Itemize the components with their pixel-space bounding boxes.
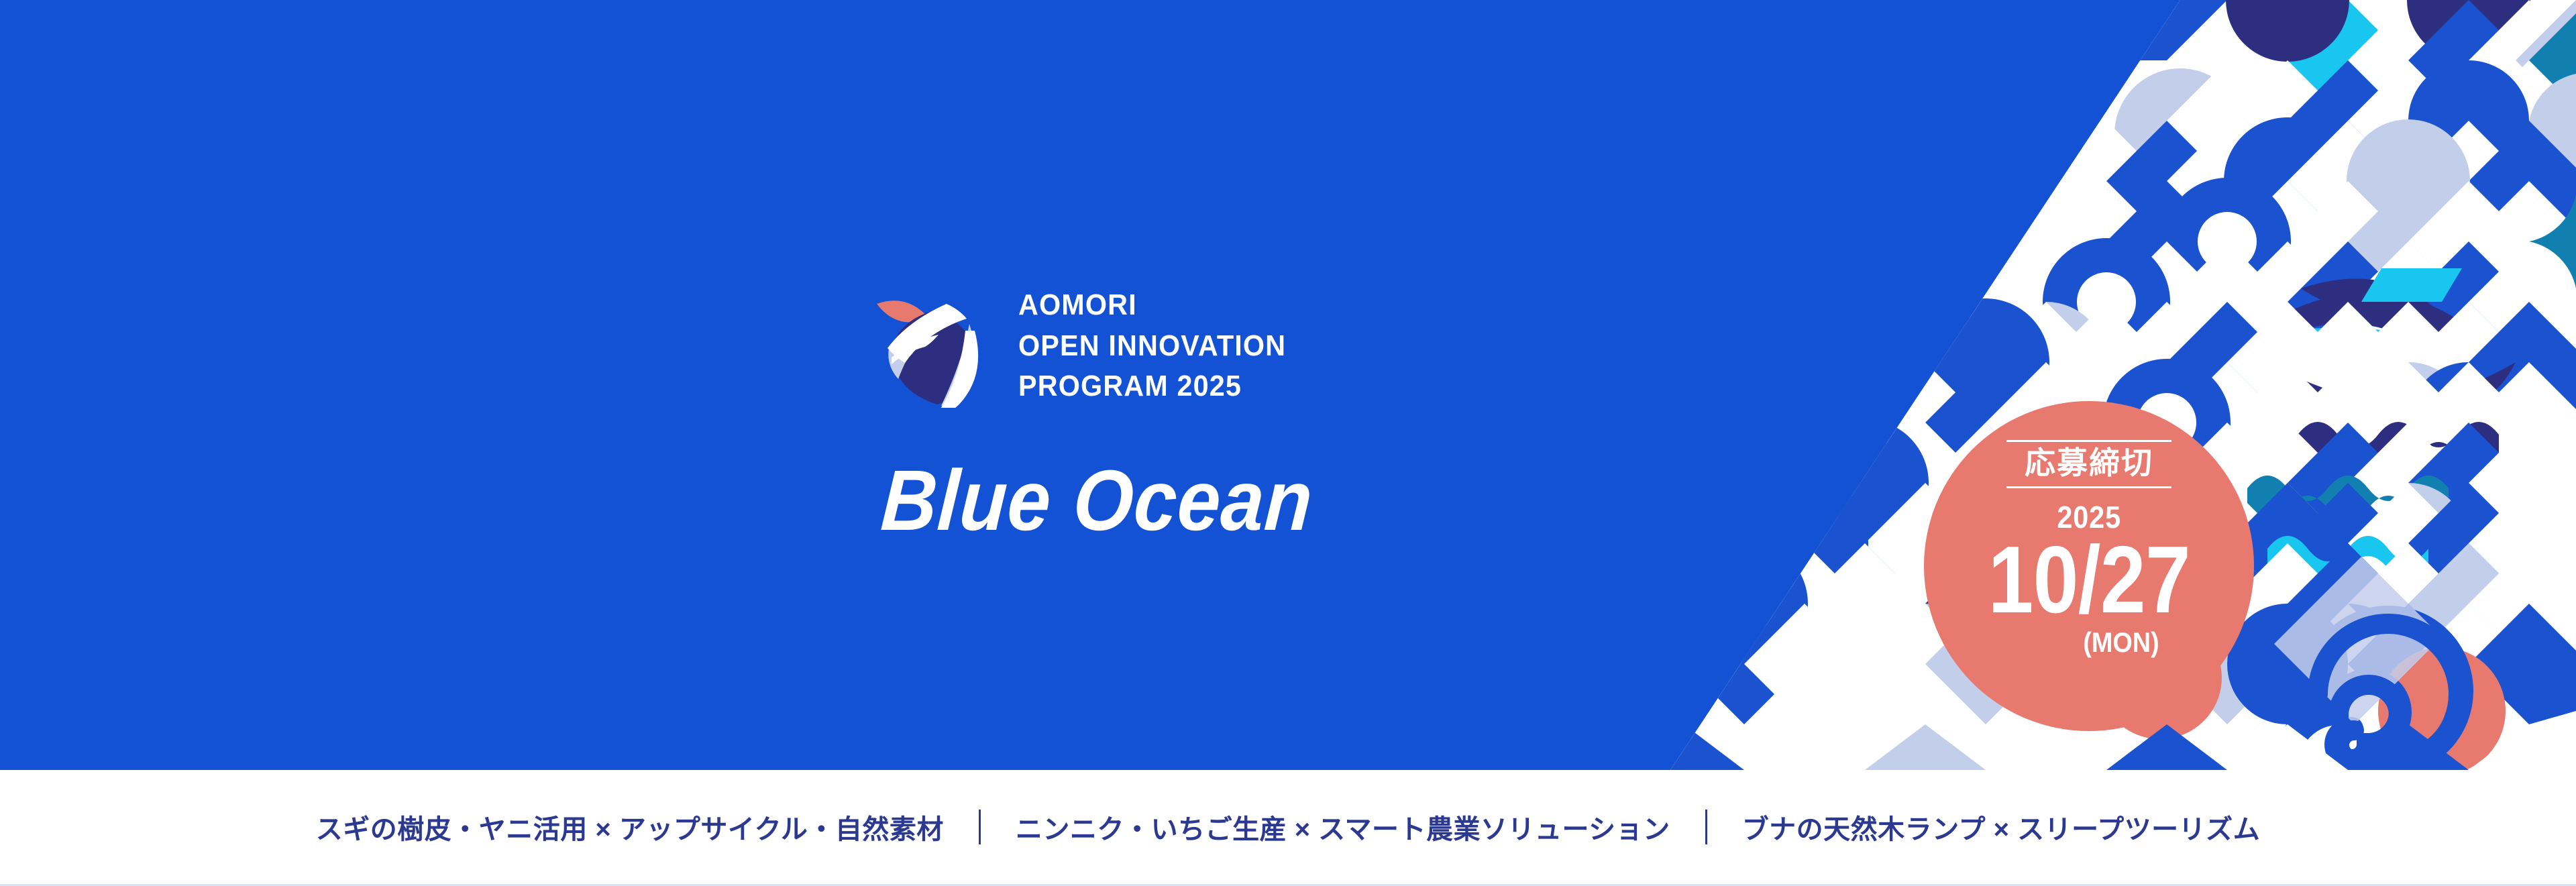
logo-line-3: PROGRAM 2025 bbox=[1018, 366, 1286, 407]
program-logo-text: AOMORI OPEN INNOVATION PROGRAM 2025 bbox=[1018, 278, 1303, 407]
deadline-label-wrap: 応募締切 bbox=[2006, 440, 2171, 488]
theme-item-2[interactable]: ニンニク・いちご生産 × スマート農業ソリューション bbox=[981, 808, 1705, 846]
hero-section: AOMORI OPEN INNOVATION PROGRAM 2025 Blue… bbox=[0, 0, 2576, 770]
theme-item-1[interactable]: スギの樹皮・ヤニ活用 × アップサイクル・自然素材 bbox=[281, 808, 979, 846]
program-logo: AOMORI OPEN INNOVATION PROGRAM 2025 bbox=[869, 278, 1472, 408]
logo-line-1: AOMORI bbox=[1018, 285, 1286, 326]
deadline-label: 応募締切 bbox=[2006, 446, 2171, 481]
deadline-date: 10/27 bbox=[1988, 537, 2190, 624]
tagline-blue-ocean: Blue Ocean bbox=[879, 458, 1316, 544]
application-deadline-badge: 応募締切 2025 10/27 (MON) bbox=[1924, 401, 2254, 731]
theme-item-3[interactable]: ブナの天然木ランプ × スリープツーリズム bbox=[1707, 808, 2296, 846]
theme-bar: スギの樹皮・ヤニ活用 × アップサイクル・自然素材 ニンニク・いちご生産 × ス… bbox=[0, 770, 2576, 886]
hero-banner-page: AOMORI OPEN INNOVATION PROGRAM 2025 Blue… bbox=[0, 0, 2576, 886]
logo-line-2: OPEN INNOVATION bbox=[1018, 326, 1286, 367]
deadline-weekday: (MON) bbox=[2083, 626, 2159, 659]
aomori-apple-logo-mark-icon bbox=[869, 284, 993, 408]
